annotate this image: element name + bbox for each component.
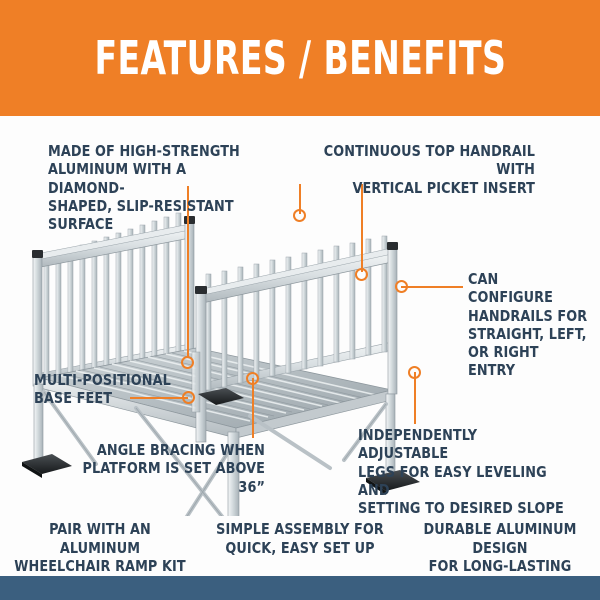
footer-column-pair-with-ramp-kit: PAIR WITH AN ALUMINUM WHEELCHAIR RAMP KI… <box>8 520 192 576</box>
leader-marker-made <box>181 356 194 369</box>
footer-accent-bar <box>0 576 600 600</box>
callout-angle-bracing: ANGLE BRACING WHEN PLATFORM IS SET ABOVE… <box>76 441 265 496</box>
leader-marker-legs <box>408 366 421 379</box>
header-banner: FEATURES / BENEFITS <box>0 0 600 116</box>
leader-line-bracing <box>252 378 254 438</box>
page-title: FEATURES / BENEFITS <box>94 35 506 81</box>
callout-continuous-handrail: CONTINUOUS TOP HANDRAIL WITH VERTICAL PI… <box>291 142 535 197</box>
leader-marker-handrail-a <box>293 209 306 222</box>
leader-marker-bracing <box>246 372 259 385</box>
infographic-page: FEATURES / BENEFITS <box>0 0 600 600</box>
callout-multi-positional-base-feet: MULTI-POSITIONAL BASE FEET <box>34 371 172 408</box>
leader-line-handrail-b <box>361 184 363 272</box>
callout-adjustable-legs: INDEPENDENTLY ADJUSTABLE LEGS FOR EASY L… <box>358 426 570 517</box>
callout-configure-handrails: CAN CONFIGURE HANDRAILS FOR STRAIGHT, LE… <box>468 270 588 380</box>
footer-benefit-columns: PAIR WITH AN ALUMINUM WHEELCHAIR RAMP KI… <box>0 520 600 578</box>
leader-line-configure <box>401 286 463 288</box>
callout-made-of-aluminum: MADE OF HIGH-STRENGTH ALUMINUM WITH A DI… <box>48 142 246 233</box>
leader-marker-handrail-b <box>355 268 368 281</box>
leader-marker-configure <box>395 280 408 293</box>
leader-line-legs <box>414 372 416 424</box>
footer-column-simple-assembly: SIMPLE ASSEMBLY FOR QUICK, EASY SET UP <box>208 520 392 557</box>
leader-marker-basefeet <box>182 391 195 404</box>
illustration-stage: MADE OF HIGH-STRENGTH ALUMINUM WITH A DI… <box>0 116 600 516</box>
